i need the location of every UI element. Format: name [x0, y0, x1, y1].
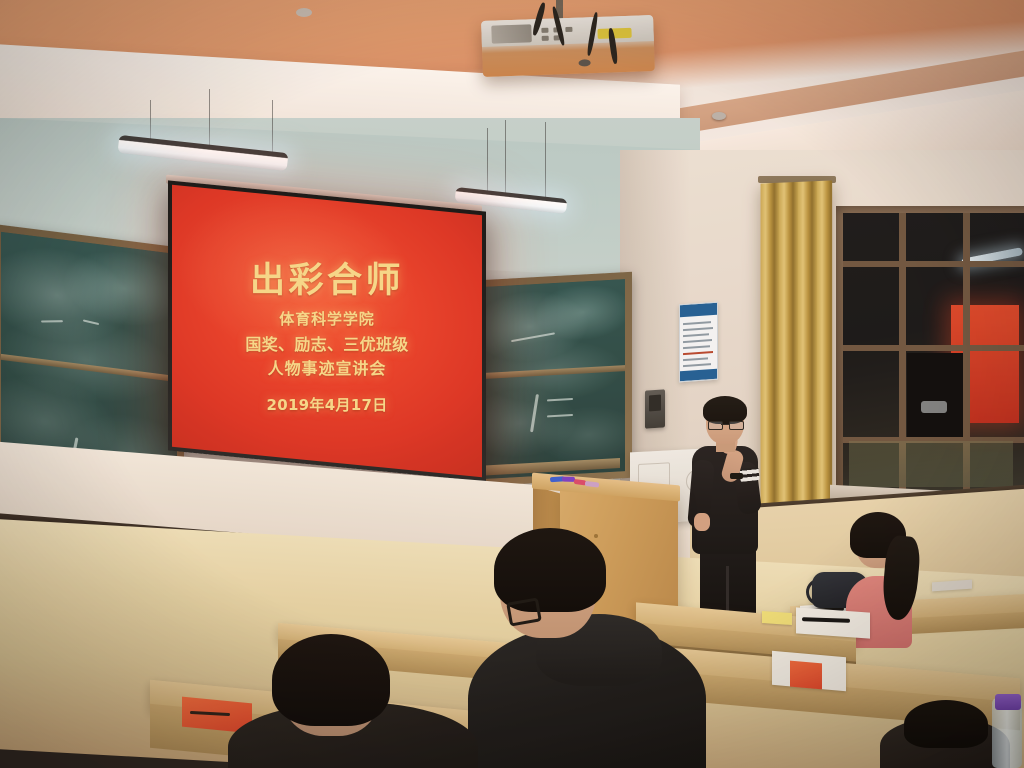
- window-lower-pane: [849, 441, 1013, 487]
- wall-notice-board: [679, 302, 718, 383]
- projection-screen-surface: 出彩合师 体育科学学院 国奖、励志、三优班级 人物事迹宣讲会 2019年4月17…: [172, 185, 482, 477]
- smoke-detector-icon: [712, 112, 726, 120]
- slide-subtitle-2: 国奖、励志、三优班级: [172, 331, 482, 355]
- wall-mounted-device[interactable]: [645, 389, 665, 428]
- student-hair: [494, 528, 606, 612]
- student-hair: [272, 634, 390, 726]
- poster-text-line: [683, 351, 713, 355]
- student-hair: [904, 700, 988, 748]
- projector-button: [541, 28, 548, 33]
- projection-screen: 出彩合师 体育科学学院 国奖、励志、三优班级 人物事迹宣讲会 2019年4月17…: [168, 180, 486, 481]
- light-suspension-wire: [545, 122, 546, 206]
- slide-subtitle-1: 体育科学学院: [172, 308, 482, 329]
- poster-footer: [680, 369, 717, 382]
- slide-title: 出彩合师: [172, 252, 482, 303]
- projector-vent: [491, 24, 532, 43]
- classroom-photo: 出彩合师 体育科学学院 国奖、励志、三优班级 人物事迹宣讲会 2019年4月17…: [0, 0, 1024, 768]
- chalk-residue: [485, 279, 625, 479]
- projector-button: [565, 27, 572, 32]
- poster-text-line: [683, 321, 711, 325]
- poster-text-line: [683, 345, 710, 349]
- light-suspension-wire: [505, 120, 506, 200]
- projector-lens-icon: [578, 59, 590, 66]
- program-handout-red-panel: [790, 661, 822, 690]
- light-suspension-wire: [209, 89, 210, 152]
- bottle-cap[interactable]: [995, 694, 1021, 710]
- paper-sheet[interactable]: [796, 607, 870, 638]
- poster-text-line: [683, 327, 713, 331]
- light-suspension-wire: [487, 128, 488, 198]
- presenter-hair: [703, 396, 747, 424]
- glasses-icon: [708, 421, 742, 428]
- podium-knob: [594, 534, 598, 538]
- glasses-lens: [708, 421, 723, 430]
- marker-pen[interactable]: [585, 481, 599, 488]
- device-screen-icon: [649, 395, 661, 412]
- poster-text-line: [683, 333, 709, 337]
- glasses-lens: [729, 421, 744, 430]
- projector: [481, 15, 655, 77]
- slide-date: 2019年4月17日: [172, 394, 482, 415]
- poster-header: [680, 303, 717, 318]
- window-glass: [843, 213, 1024, 503]
- poster-text-line: [683, 339, 712, 343]
- glasses-bridge: [721, 424, 729, 425]
- sticky-note-pad[interactable]: [762, 611, 792, 625]
- window-mullion-horizontal: [843, 345, 1024, 351]
- light-suspension-wire: [272, 100, 273, 159]
- window-specular-highlight: [921, 401, 947, 413]
- window: [836, 206, 1024, 510]
- blackboard-center: [478, 272, 632, 487]
- slide-subtitle-3: 人物事迹宣讲会: [172, 355, 482, 379]
- window-dark-pane: [907, 353, 965, 441]
- poster-text-line: [683, 363, 711, 367]
- presenter-left-hand: [694, 513, 710, 531]
- projector-button: [542, 36, 549, 41]
- window-curtain[interactable]: [761, 180, 833, 513]
- poster-text-line: [683, 357, 708, 361]
- smoke-detector-icon: [296, 8, 312, 17]
- blackboard-surface: [485, 279, 625, 479]
- window-mullion-horizontal: [843, 261, 1024, 267]
- chalk-mark: [41, 320, 63, 322]
- presenter-wristwatch: [730, 473, 743, 479]
